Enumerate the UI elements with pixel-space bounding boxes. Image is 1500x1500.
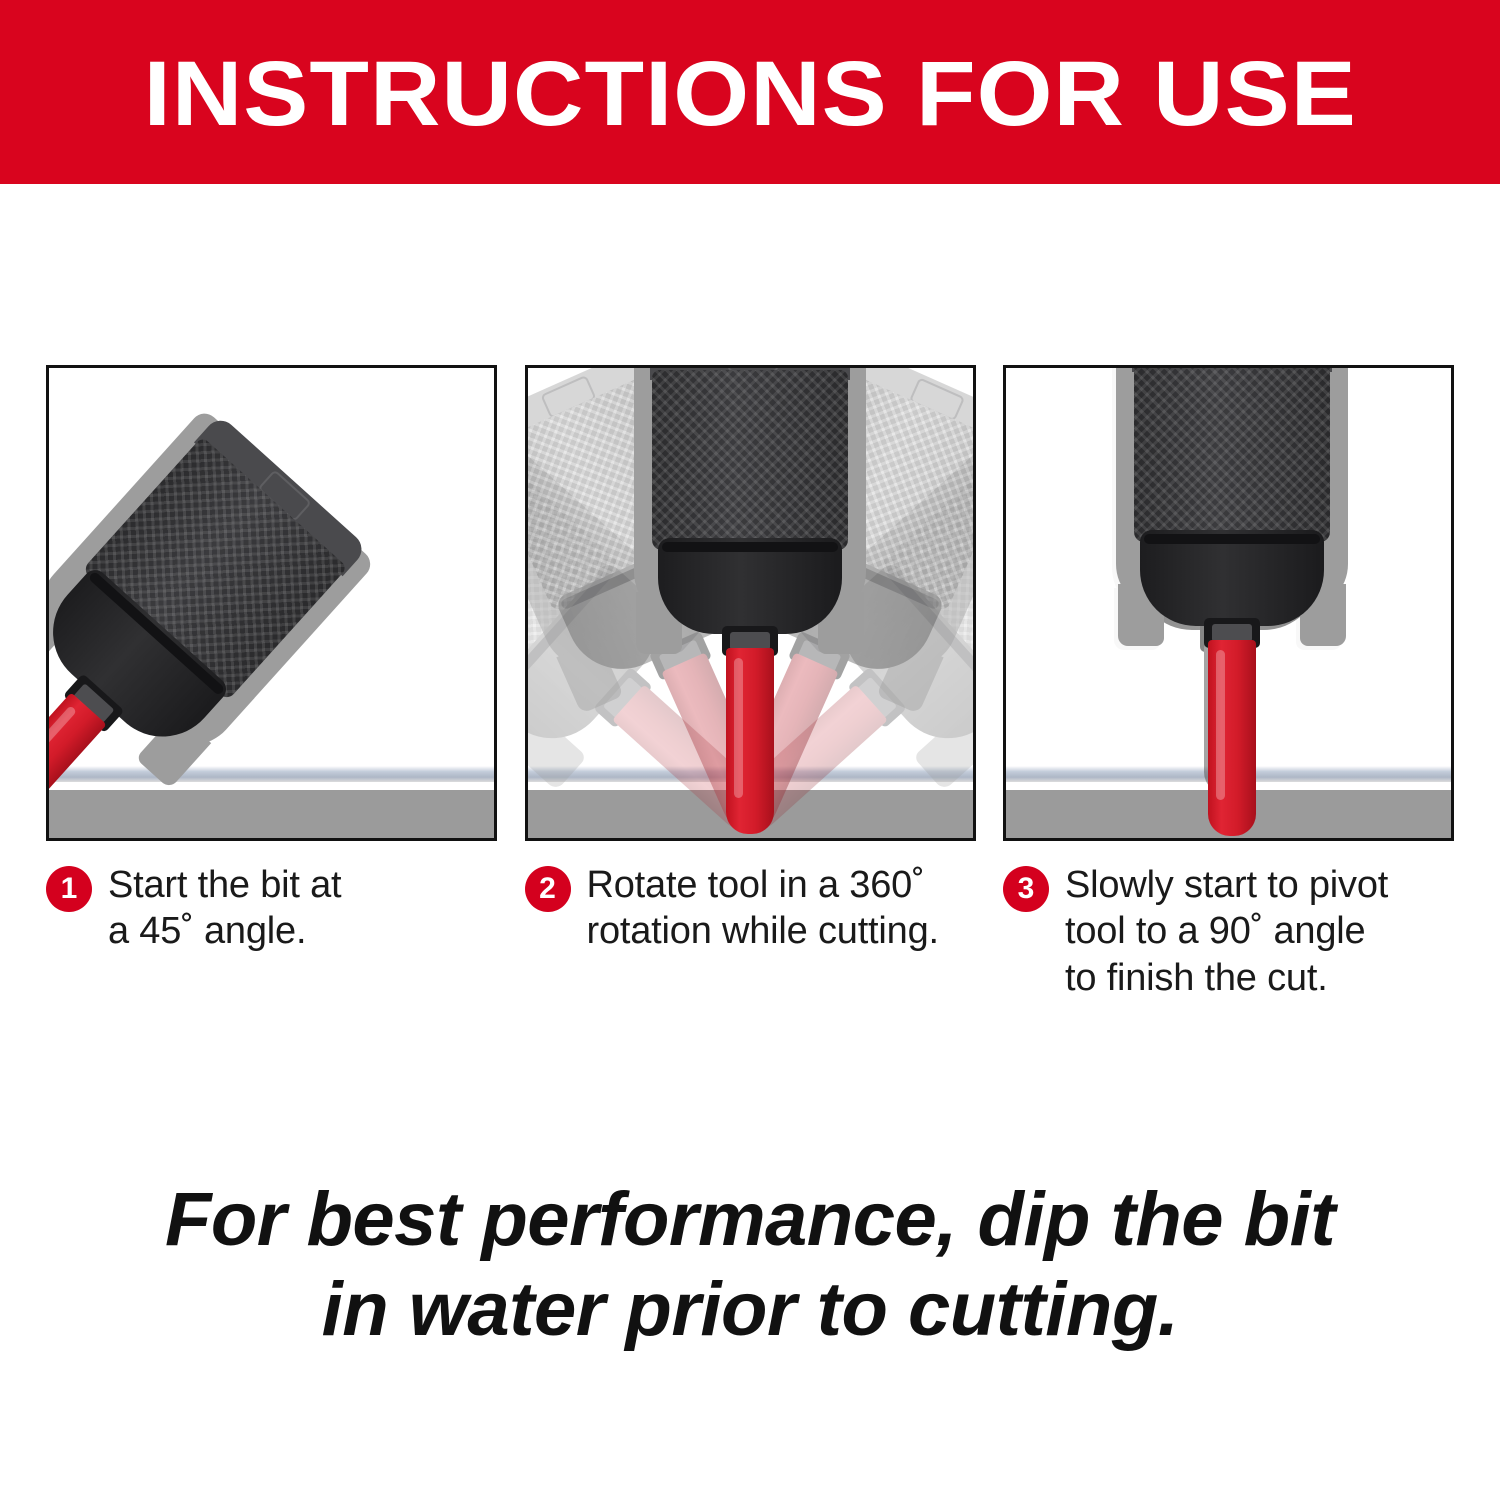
step-number-badge-3: 3 [1003, 866, 1049, 912]
illustration-panel-row [46, 365, 1454, 841]
illustration-panel-step-2 [525, 365, 976, 841]
tool-nose-band [1144, 534, 1320, 544]
step-number-badge-1: 1 [46, 866, 92, 912]
step-caption-text-2: Rotate tool in a 360˚ rotation while cut… [587, 862, 939, 955]
grout-blade [726, 648, 774, 834]
step-caption-line: tool to a 90˚ angle [1065, 908, 1388, 954]
step-caption-line: Slowly start to pivot [1065, 862, 1388, 908]
surface-body [49, 790, 494, 838]
tool-grip [1134, 365, 1330, 542]
step-caption-2: 2 Rotate tool in a 360˚ rotation while c… [525, 862, 976, 1001]
tool-nose [658, 538, 842, 634]
step-number-badge-2: 2 [525, 866, 571, 912]
surface-edge-highlight [49, 766, 494, 782]
step-caption-line: rotation while cutting. [587, 908, 939, 954]
illustration-panel-step-3 [1003, 365, 1454, 841]
step-caption-row: 1 Start the bit at a 45˚ angle. 2 Rotate… [46, 862, 1454, 1001]
grout-blade-highlight [734, 658, 743, 798]
step-caption-3: 3 Slowly start to pivot tool to a 90˚ an… [1003, 862, 1454, 1001]
step-caption-line: a 45˚ angle. [108, 908, 341, 954]
step-caption-line: Start the bit at [108, 862, 341, 908]
footnote-line-1: For best performance, dip the bit [0, 1175, 1500, 1265]
tool-nose [1140, 530, 1324, 626]
step-caption-text-3: Slowly start to pivot tool to a 90˚ angl… [1065, 862, 1388, 1001]
footnote-tip: For best performance, dip the bit in wat… [0, 1175, 1500, 1354]
page-title: INSTRUCTIONS FOR USE [143, 48, 1356, 140]
step-caption-line: Rotate tool in a 360˚ [587, 862, 939, 908]
footnote-line-2: in water prior to cutting. [0, 1265, 1500, 1355]
illustration-panel-step-1 [46, 365, 497, 841]
header-banner: INSTRUCTIONS FOR USE [0, 0, 1500, 184]
tool-ghost-left-near-icon [525, 365, 650, 423]
tool-grip [652, 370, 848, 550]
work-surface [49, 766, 494, 838]
grout-blade-highlight [1216, 650, 1225, 800]
tool-nose-band [662, 542, 838, 552]
step-caption-text-1: Start the bit at a 45˚ angle. [108, 862, 341, 955]
step-caption-line: to finish the cut. [1065, 955, 1388, 1001]
step-caption-1: 1 Start the bit at a 45˚ angle. [46, 862, 497, 1001]
oscillating-tool-angled-45-icon [219, 414, 368, 548]
tool-ghost-right-near-icon [849, 365, 975, 423]
